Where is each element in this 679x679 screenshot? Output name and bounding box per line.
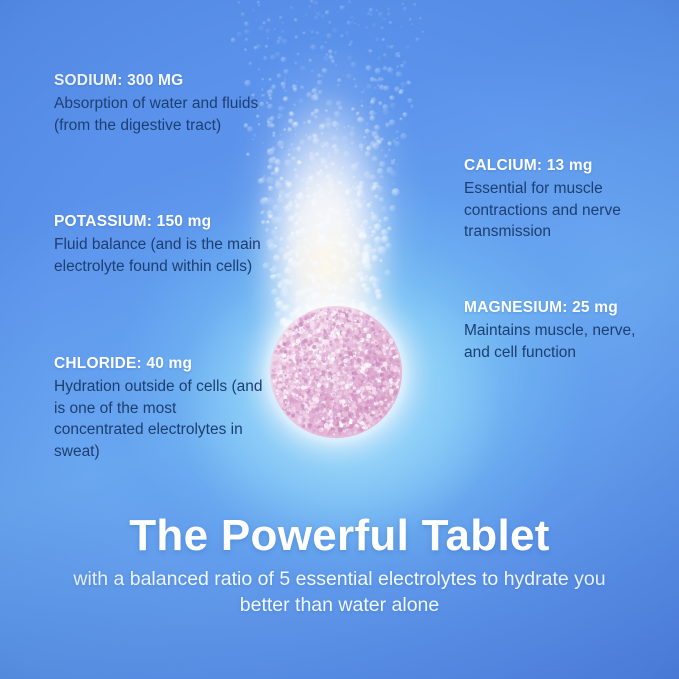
background-vignette [0, 0, 679, 679]
product-infographic: SODIUM: 300 MG Absorption of water and f… [0, 0, 679, 679]
